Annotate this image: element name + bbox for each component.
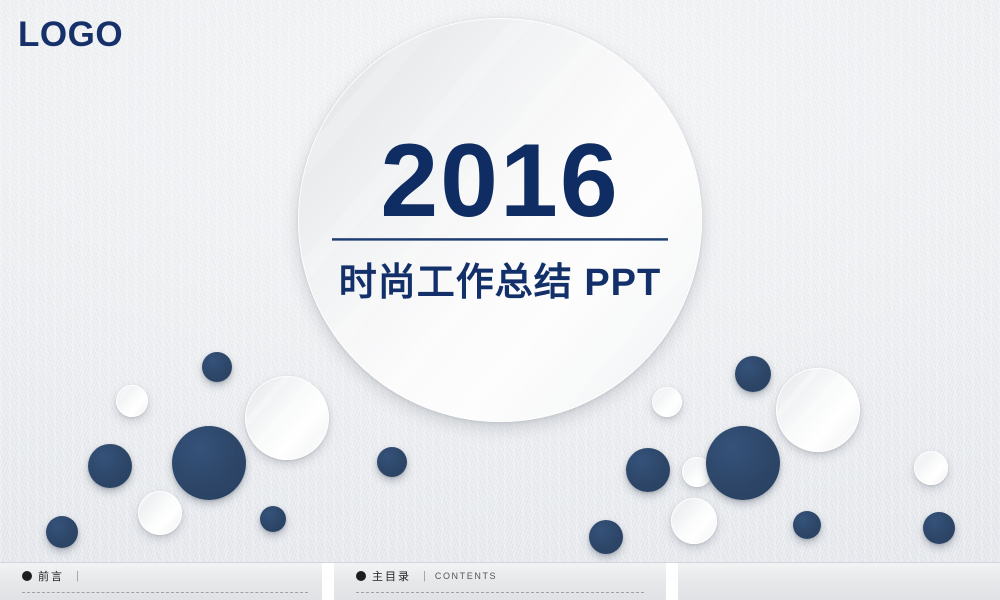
- slide-canvas: LOGO 2016 时尚工作总结 PPT 前言 | 主目录 | CONTENTS: [0, 0, 1000, 600]
- decorative-circle-navy: [88, 444, 132, 488]
- page-subtitle: 时尚工作总结 PPT: [0, 251, 1000, 306]
- bottom-section-preface[interactable]: 前言 |: [0, 563, 322, 600]
- decorative-circle-navy: [172, 426, 246, 500]
- bottom-section-empty[interactable]: [678, 563, 1000, 600]
- section-dashed-underline: [22, 592, 308, 593]
- section-label-cn: 主目录: [372, 568, 411, 584]
- decorative-circle-navy: [589, 520, 623, 554]
- decorative-circle-navy: [626, 448, 670, 492]
- bullet-dot-icon: [356, 571, 366, 581]
- decorative-circle-navy: [923, 512, 955, 544]
- section-divider: |: [76, 570, 79, 582]
- decorative-circle-white: [116, 385, 148, 417]
- decorative-circle-navy: [260, 506, 286, 532]
- bullet-dot-icon: [22, 571, 32, 581]
- section-label-en: CONTENTS: [435, 571, 497, 581]
- section-label-cn: 前言: [38, 568, 64, 584]
- decorative-circle-white: [652, 387, 682, 417]
- bottom-bar: 前言 | 主目录 | CONTENTS: [0, 562, 1000, 600]
- panel-gap: [322, 563, 334, 600]
- page-title-year: 2016: [0, 132, 1000, 232]
- decorative-circle-navy: [377, 447, 407, 477]
- decorative-circle-white: [671, 498, 717, 544]
- decorative-circle-white: [138, 491, 182, 535]
- decorative-circle-navy: [706, 426, 780, 500]
- logo[interactable]: LOGO: [18, 17, 123, 52]
- decorative-circle-white: [245, 376, 329, 460]
- panel-gap: [666, 563, 678, 600]
- decorative-circle-navy: [46, 516, 78, 548]
- decorative-circle-navy: [735, 356, 771, 392]
- decorative-circle-white: [776, 368, 860, 452]
- section-divider: |: [423, 570, 426, 582]
- title-block: 2016 时尚工作总结 PPT: [0, 132, 1000, 306]
- decorative-circle-white: [914, 451, 948, 485]
- bottom-section-contents[interactable]: 主目录 | CONTENTS: [334, 563, 666, 600]
- decorative-circle-navy: [793, 511, 821, 539]
- section-dashed-underline: [356, 592, 644, 593]
- decorative-circle-navy: [202, 352, 232, 382]
